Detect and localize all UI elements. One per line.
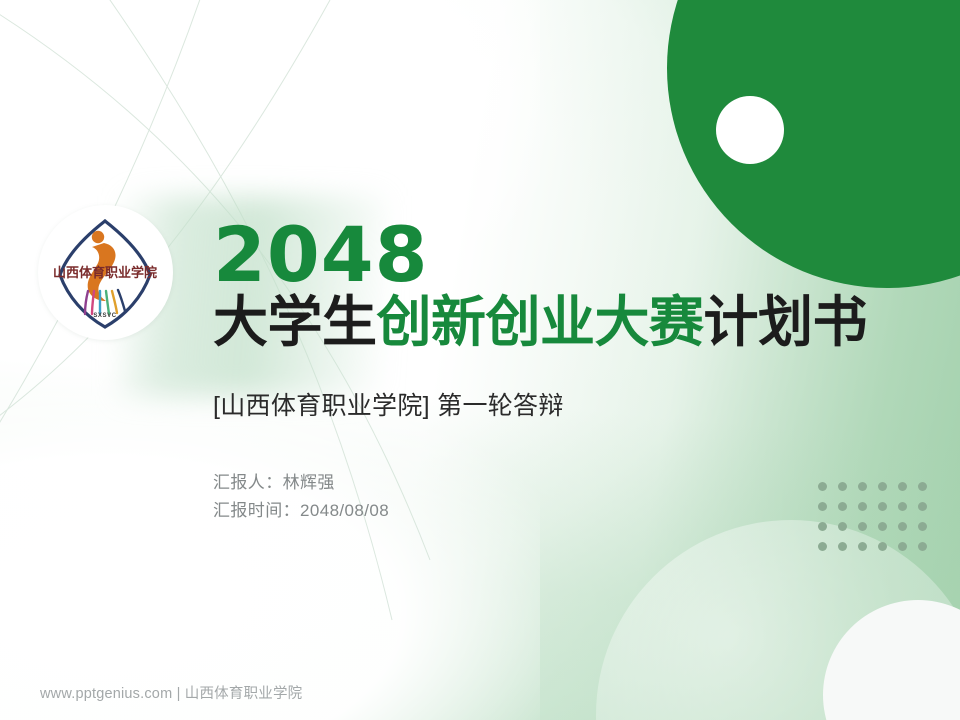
grid-dot xyxy=(918,502,927,511)
grid-dot xyxy=(898,542,907,551)
title-block: 2048 大学生创新创业大赛计划书 [山西体育职业学院] 第一轮答辩 汇报人：林… xyxy=(213,218,913,525)
grid-dot xyxy=(818,542,827,551)
logo-acronym: SXSVC xyxy=(93,313,116,319)
slide-footer: www.pptgenius.com | 山西体育职业学院 xyxy=(40,682,302,703)
headline-segment-2: 创新创业大赛 xyxy=(377,291,704,353)
grid-dot xyxy=(878,542,887,551)
presentation-slide: 山西体育职业学院 SXSVC 2048 大学生创新创业大赛计划书 [山西体育职业… xyxy=(0,0,960,720)
grid-dot xyxy=(918,542,927,551)
presenter-name: 汇报人：林辉强 xyxy=(213,469,913,497)
slide-meta: 汇报人：林辉强 汇报时间：2048/08/08 xyxy=(213,469,913,524)
grid-dot xyxy=(858,542,867,551)
headline-segment-1: 大学生 xyxy=(213,291,377,353)
slide-headline: 大学生创新创业大赛计划书 xyxy=(213,294,913,352)
slide-year: 2048 xyxy=(213,218,913,292)
decorative-white-circle-top-right xyxy=(716,96,784,164)
logo-institution-name: 山西体育职业学院 xyxy=(53,265,157,281)
slide-subtitle: [山西体育职业学院] 第一轮答辩 xyxy=(213,386,913,422)
grid-dot xyxy=(918,522,927,531)
grid-dot xyxy=(838,542,847,551)
logo-emblem: 山西体育职业学院 SXSVC xyxy=(38,205,173,340)
report-date: 汇报时间：2048/08/08 xyxy=(213,497,913,525)
institution-logo: 山西体育职业学院 SXSVC xyxy=(38,205,173,340)
headline-segment-3: 计划书 xyxy=(704,291,868,353)
grid-dot xyxy=(918,482,927,491)
